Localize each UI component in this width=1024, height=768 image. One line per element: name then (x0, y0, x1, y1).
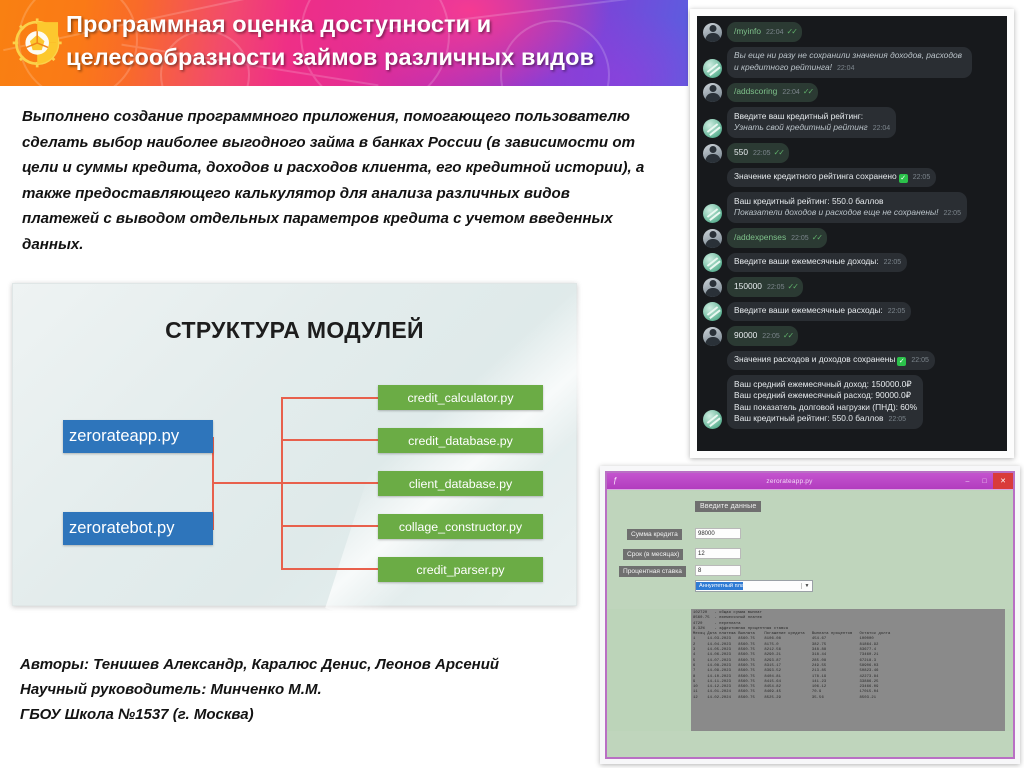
message-time: 22:05 (884, 259, 902, 266)
avatar-bot (703, 410, 722, 429)
message-bubble: 9000022:05✓✓ (727, 326, 798, 346)
read-ticks-icon: ✓✓ (787, 27, 796, 36)
gear-logo-icon (10, 12, 68, 72)
message-time: 22:05 (753, 150, 771, 157)
module-node-credit-parser: credit_parser.py (378, 557, 543, 582)
summary-line: Ваш средний ежемесячный расход: 90000.0₽ (734, 390, 917, 402)
module-node-credit-database: credit_database.py (378, 428, 543, 453)
chat-message: /addscoring22:04✓✓ (703, 83, 1001, 103)
chat-message: Значения расходов и доходов сохранены✓22… (703, 351, 1001, 371)
maximize-button[interactable]: □ (976, 473, 993, 489)
credits-block: Авторы: Тенишев Александр, Каралюс Денис… (20, 652, 620, 727)
label-term-months: Срок (в месяцах) (623, 549, 683, 560)
read-ticks-icon: ✓✓ (787, 282, 796, 291)
title-banner: Программная оценка доступности и целесоо… (0, 0, 688, 86)
chat-message: /addexpenses22:05✓✓ (703, 228, 1001, 248)
message-bubble: /addscoring22:04✓✓ (727, 83, 818, 103)
avatar-bot (703, 253, 722, 272)
message-text: Введите ваш кредитный рейтинг: (734, 111, 890, 123)
message-bubble: /myinfo22:04✓✓ (727, 22, 802, 42)
message-bubble: 55022:05✓✓ (727, 143, 789, 163)
module-node-label: client_database.py (409, 477, 512, 491)
message-bubble: Введите ваши ежемесячные расходы:22:05 (727, 302, 911, 322)
message-time: 22:05 (791, 235, 809, 242)
summary-line: Ваш показатель долговой нагрузки (ПНД): … (734, 402, 917, 414)
message-time: 22:05 (888, 308, 906, 315)
form-heading: Введите данные (695, 501, 761, 512)
chat-message: Значение кредитного рейтинга сохранено✓2… (703, 168, 1001, 188)
credits-authors: Авторы: Тенишев Александр, Каралюс Денис… (20, 652, 620, 677)
chat-message: 9000022:05✓✓ (703, 326, 1001, 346)
message-bubble: Введите ваш кредитный рейтинг: Узнать св… (727, 107, 896, 138)
output-table-row: 12 14-02-2024 8560.75 8525.29 35.56 8503… (693, 696, 1005, 701)
message-bubble: Вы еще ни разу не сохранили значения дох… (727, 47, 972, 78)
module-node-credit-calculator: credit_calculator.py (378, 385, 543, 410)
avatar-spacer (703, 351, 722, 370)
message-time: 22:05 (889, 416, 907, 423)
module-node-label: credit_calculator.py (407, 391, 513, 405)
avatar-user (703, 327, 722, 346)
dropdown-selected-value: Аннуитетный платеж (696, 582, 743, 590)
message-time: 22:05 (943, 210, 961, 217)
summary-line: Ваш средний ежемесячный доход: 150000.0₽ (734, 379, 917, 391)
summary-line: Ваш кредитный рейтинг: 550.0 баллов (734, 413, 884, 423)
chevron-down-icon[interactable]: ▼ (801, 583, 812, 589)
message-time: 22:05 (911, 357, 929, 364)
payment-type-dropdown[interactable]: Аннуитетный платеж ▼ (695, 580, 813, 592)
chat-message: /myinfo22:04✓✓ (703, 22, 1001, 42)
avatar-bot (703, 302, 722, 321)
intro-paragraph: Выполнено создание программного приложен… (22, 104, 650, 258)
read-ticks-icon: ✓✓ (803, 87, 812, 96)
module-node-label: zeroratebot.py (69, 519, 174, 538)
telegram-screenshot: /myinfo22:04✓✓ Вы еще ни разу не сохрани… (690, 9, 1014, 458)
avatar-bot (703, 59, 722, 78)
minimize-button[interactable]: – (959, 473, 976, 489)
chat-message: Введите ваши ежемесячные доходы:22:05 (703, 253, 1001, 273)
message-bubble: 15000022:05✓✓ (727, 277, 803, 297)
page-title: Программная оценка доступности и целесоо… (66, 8, 681, 74)
message-text: 90000 (734, 330, 757, 340)
message-text: Значения расходов и доходов сохранены (734, 354, 895, 364)
diagram-title: СТРУКТУРА МОДУЛЕЙ (13, 317, 576, 344)
window-titlebar: ƒ zerorateapp.py – □ ✕ (607, 473, 1013, 490)
message-bubble: Значение кредитного рейтинга сохранено✓2… (727, 168, 936, 188)
message-subtext: Показатели доходов и расходов еще не сох… (734, 207, 938, 217)
chat-message: Введите ваш кредитный рейтинг: Узнать св… (703, 107, 1001, 138)
message-time: 22:05 (767, 284, 785, 291)
avatar-user (703, 229, 722, 248)
message-text: Ваш кредитный рейтинг: 550.0 баллов (734, 196, 961, 208)
read-ticks-icon: ✓✓ (783, 331, 792, 340)
read-ticks-icon: ✓✓ (774, 148, 783, 157)
message-text: Введите ваши ежемесячные доходы: (734, 256, 879, 266)
message-text: Введите ваши ежемесячные расходы: (734, 305, 883, 315)
wire-branch-1 (281, 397, 379, 399)
message-subtext: Узнать свой кредитный рейтинг (734, 122, 868, 132)
credits-school: ГБОУ Школа №1537 (г. Москва) (20, 702, 620, 727)
message-text: /addexpenses (734, 232, 786, 242)
message-bubble: Ваш кредитный рейтинг: 550.0 баллов Пока… (727, 192, 967, 223)
module-node-label: credit_parser.py (416, 563, 504, 577)
message-time: 22:04 (873, 125, 891, 132)
wire-branch-4 (281, 525, 379, 527)
input-loan-amount[interactable]: 98000 (695, 528, 741, 539)
avatar-user (703, 278, 722, 297)
module-node-zerorateapp: zerorateapp.py (63, 420, 213, 453)
window-controls: – □ ✕ (959, 473, 1013, 489)
module-node-collage-constructor: collage_constructor.py (378, 514, 543, 539)
message-bubble: Введите ваши ежемесячные доходы:22:05 (727, 253, 907, 273)
window-title: zerorateapp.py (620, 478, 959, 485)
check-icon: ✓ (897, 357, 906, 366)
telegram-chat: /myinfo22:04✓✓ Вы еще ни разу не сохрани… (697, 16, 1007, 451)
input-form: Введите данные Сумма кредита 98000 Срок … (607, 491, 1013, 609)
avatar-user (703, 83, 722, 102)
input-interest-rate[interactable]: 8 (695, 565, 741, 576)
avatar-user (703, 144, 722, 163)
module-node-label: credit_database.py (408, 434, 513, 448)
window-footer (607, 731, 1013, 757)
avatar-spacer (703, 168, 722, 187)
wire-trunk (212, 482, 282, 484)
message-text: 150000 (734, 281, 762, 291)
chat-message: Введите ваши ежемесячные расходы:22:05 (703, 302, 1001, 322)
label-loan-amount: Сумма кредита (627, 529, 682, 540)
label-interest-rate: Процентная ставка (619, 566, 686, 577)
chat-message: 15000022:05✓✓ (703, 277, 1001, 297)
message-bubble: /addexpenses22:05✓✓ (727, 228, 827, 248)
module-node-client-database: client_database.py (378, 471, 543, 496)
output-table-body: 1 14-03-2023 8560.75 8106.08 454.67 1000… (693, 637, 1005, 701)
message-time: 22:04 (782, 89, 800, 96)
app-window: ƒ zerorateapp.py – □ ✕ Введите данные Су… (605, 471, 1015, 759)
message-text: 550 (734, 147, 748, 157)
wire-branch-2 (281, 439, 379, 441)
module-node-zeroratebot: zeroratebot.py (63, 512, 213, 545)
avatar-user (703, 23, 722, 42)
input-term-months[interactable]: 12 (695, 548, 741, 559)
message-text: /addscoring (734, 86, 777, 96)
credits-supervisor: Научный руководитель: Минченко М.М. (20, 677, 620, 702)
wire-branch-5 (281, 568, 379, 570)
avatar-bot (703, 204, 722, 223)
chat-message-summary: Ваш средний ежемесячный доход: 150000.0₽… (703, 375, 1001, 429)
message-time: 22:04 (837, 65, 855, 72)
chat-message: Вы еще ни разу не сохранили значения дох… (703, 47, 1001, 78)
avatar-bot (703, 119, 722, 138)
python-icon: ƒ (610, 476, 620, 486)
module-node-label: collage_constructor.py (399, 520, 522, 534)
wire-branch-3 (281, 482, 379, 484)
message-text: Значение кредитного рейтинга сохранено (734, 171, 897, 181)
message-text: /myinfo (734, 26, 761, 36)
chat-message: Ваш кредитный рейтинг: 550.0 баллов Пока… (703, 192, 1001, 223)
chat-message: 55022:05✓✓ (703, 143, 1001, 163)
message-time: 22:05 (913, 174, 931, 181)
module-node-label: zerorateapp.py (69, 427, 179, 446)
module-structure-diagram: СТРУКТУРА МОДУЛЕЙ zerorateapp.py zerorat… (12, 283, 577, 606)
message-time: 22:04 (766, 29, 784, 36)
app-screenshot: ƒ zerorateapp.py – □ ✕ Введите данные Су… (600, 466, 1020, 764)
message-time: 22:05 (762, 333, 780, 340)
page-title-line2: целесообразности займов различных видов (66, 41, 681, 74)
message-bubble: Ваш средний ежемесячный доход: 150000.0₽… (727, 375, 923, 429)
read-ticks-icon: ✓✓ (812, 233, 821, 242)
message-bubble: Значения расходов и доходов сохранены✓22… (727, 351, 935, 371)
check-icon: ✓ (899, 174, 908, 183)
page-title-line1: Программная оценка доступности и (66, 8, 681, 41)
close-button[interactable]: ✕ (993, 473, 1013, 489)
calculation-output: 102720 - общая сумма выплат 8560.75 - еж… (691, 609, 1005, 735)
